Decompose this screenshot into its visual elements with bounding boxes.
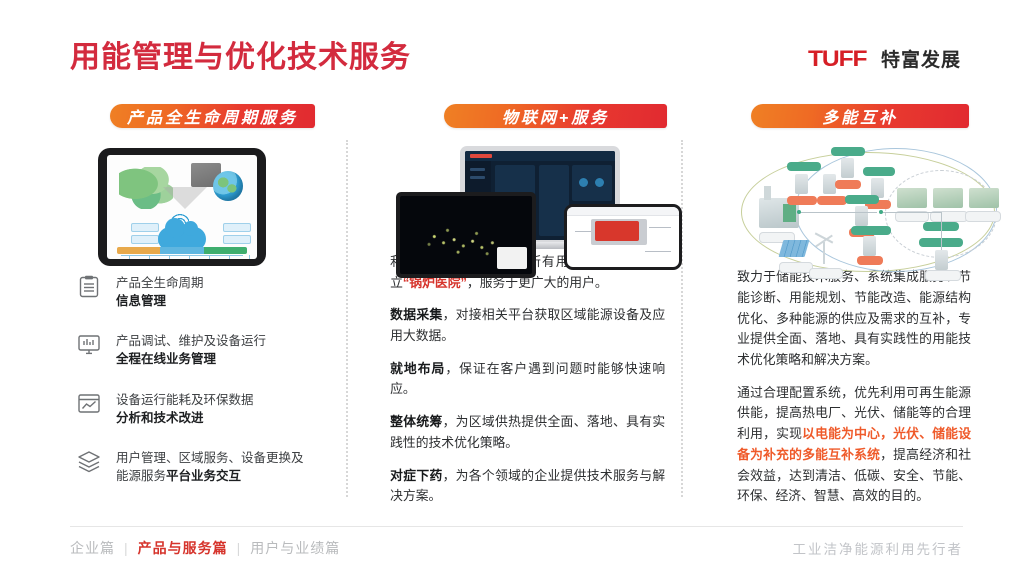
beam-graphic [163,187,207,209]
node-label-orange [817,196,847,205]
banner-product-lifecycle: 产品全生命周期服务 [110,104,315,128]
tree-stem [129,255,130,259]
gauge-dot [595,178,604,187]
cloud-tag [223,223,251,232]
pipe-line [645,251,671,252]
wind-turbine-graphic [823,242,825,264]
city-block-graphic [897,188,927,208]
feature-line-2-prefix: 能源服务 [116,469,166,483]
feature-line-2: 能源服务平台业务交互 [116,467,304,485]
feature-line-2: 信息管理 [116,292,204,310]
tree-stem [249,255,250,259]
node-label [925,270,961,281]
paragraph: 对症下药，为各个领域的企业提供技术服务与解决方案。 [390,466,665,507]
monitor-icon [76,332,102,358]
city-block-graphic [969,188,999,208]
paragraph-lead: 就地布局 [390,361,445,376]
chart-image-icon [76,391,102,417]
column-divider-1 [346,140,348,497]
node-label [965,211,1001,222]
paragraph: 数据采集，对接相关平台获取区域能源设备及应用大数据。 [390,305,665,346]
feature-text: 设备运行能耗及环保数据 分析和技术改进 [116,391,254,427]
cloud-tag [223,235,251,244]
tablet-screen [107,155,257,259]
map-legend-badge [497,247,527,269]
network-node [935,250,948,270]
phone-statusbar [567,207,679,216]
pipe-line [649,227,671,228]
node-label-green [831,147,865,156]
tablet-device [98,148,266,266]
node-label [779,262,813,273]
iot-body-text: 利用物联网采集区域内所有用户设备数据，建立“锅炉医院”，服务于更广大的用户。 数… [390,252,667,507]
network-node [841,158,854,178]
network-node [795,174,808,194]
illustration-device-cluster [390,142,667,238]
banner-iot-service: 物联网+服务 [444,104,667,128]
logo-chinese-name: 特富发展 [881,45,961,72]
breadcrumb-separator: | [124,540,129,556]
network-node [855,206,868,226]
node-label-green [787,162,821,171]
dashboard-card [572,165,612,201]
cloud-tag [131,235,159,244]
tree-stem [149,255,150,259]
tree-stem [169,255,170,259]
footer-tagline: 工业洁净能源利用先行者 [793,538,964,558]
city-block-graphic [933,188,963,208]
pipe-line [575,231,591,232]
connector-line [941,212,942,250]
gauge-dot [579,178,588,187]
status-segment-green [204,247,247,254]
feature-line-1: 产品全生命周期 [116,274,204,292]
node-label-green [863,167,895,176]
column-multi-energy: 多能互补 [737,104,973,507]
tree-connector [121,255,243,256]
banner-multi-energy: 多能互补 [751,104,969,128]
node-label-orange [787,196,817,205]
paragraph-lead: 对症下药 [390,468,442,483]
feature-item: 设备运行能耗及环保数据 分析和技术改进 [76,391,332,427]
node-label-orange [857,256,883,265]
connector-line [883,212,941,213]
status-segment-orange [117,247,160,254]
status-segment-blue [160,247,203,254]
breadcrumb-separator: | [237,540,242,556]
paragraph: 整体统筹，为区域供热提供全面、落地、具有实践性的技术优化策略。 [390,412,665,453]
column-product-lifecycle: 产品全生命周期服务 [70,104,332,507]
night-map-screen [400,196,532,274]
cloud-tag [131,223,159,232]
node-label [809,268,843,279]
phone-screen-boiler-diagram [567,207,679,267]
feature-line-2-strong: 平台业务交互 [166,469,241,483]
paragraph: 致力于储能技术服务、系统集成服务、节能诊断、用能规划、节能改造、能源结构优化、多… [737,267,971,371]
globe-graphic [213,171,243,201]
feature-text: 产品全生命周期 信息管理 [116,274,204,310]
device-cluster [396,142,682,282]
layers-icon [76,449,102,475]
node-label-green [845,195,879,204]
feature-text: 用户管理、区域服务、设备更换及 能源服务平台业务交互 [116,449,304,485]
breadcrumb-item-enterprise[interactable]: 企业篇 [70,538,115,558]
illustration-energy-network [737,142,973,257]
paragraph-lead: 整体统筹 [390,414,442,429]
content-columns: 产品全生命周期服务 [70,104,973,507]
logo-wordmark: TUFF [808,46,866,72]
feature-line-1: 产品调试、维护及设备运行 [116,332,266,350]
feature-item: 用户管理、区域服务、设备更换及 能源服务平台业务交互 [76,449,332,485]
node-tree-graphic [121,255,243,259]
phone-device [564,204,682,270]
breadcrumb-item-products-services[interactable]: 产品与服务篇 [138,538,228,558]
clipboard-icon [76,274,102,300]
paragraph: 就地布局，保证在客户遇到问题时能够快速响应。 [390,359,665,400]
dashboard-topbar [465,151,615,161]
feature-item: 产品调试、维护及设备运行 全程在线业务管理 [76,332,332,368]
feature-list: 产品全生命周期 信息管理 产品调试、维护及设备运行 [70,274,332,507]
brand-logo: TUFF 特富发展 [808,45,961,72]
illustration-tablet-cloud-platform [70,142,332,262]
connector-line [799,212,877,213]
node-label-green [851,226,891,235]
paragraph: 通过合理配置系统，优先利用可再生能源供能，提高热电厂、光伏、储能等的合理利用，实… [737,383,971,507]
network-node [863,236,876,256]
slide-root: 用能管理与优化技术服务 TUFF 特富发展 产品全生命周期服务 [0,0,1033,587]
footer: 企业篇 | 产品与服务篇 | 用户与业绩篇 工业洁净能源利用先行者 [70,526,963,569]
feature-line-2: 分析和技术改进 [116,409,254,427]
feature-line-2: 全程在线业务管理 [116,350,266,368]
page-title: 用能管理与优化技术服务 [70,40,411,76]
node-label-orange [835,180,861,189]
column-iot-service: 物联网+服务 [390,104,667,507]
solar-panel-graphic [779,240,810,257]
breadcrumb-item-customers-performance[interactable]: 用户与业绩篇 [250,538,340,558]
feature-text: 产品调试、维护及设备运行 全程在线业务管理 [116,332,266,368]
feature-line-1: 设备运行能耗及环保数据 [116,391,254,409]
paragraph-body: 致力于储能技术服务、系统集成服务、节能诊断、用能规划、节能改造、能源结构优化、多… [737,269,971,367]
status-color-bar [117,247,247,254]
feature-item: 产品全生命周期 信息管理 [76,274,332,310]
energy-network-diagram [737,144,1005,279]
tree-stem [229,255,230,259]
boiler-flame-graphic [595,221,639,241]
feature-line-1: 用户管理、区域服务、设备更换及 [116,449,304,467]
tree-stem [189,255,190,259]
paragraph-lead: 数据采集 [390,307,442,322]
multi-energy-body-text: 致力于储能技术服务、系统集成服务、节能诊断、用能规划、节能改造、能源结构优化、多… [737,267,973,507]
breadcrumb: 企业篇 | 产品与服务篇 | 用户与业绩篇 [70,538,340,558]
tree-stem [209,255,210,259]
tablet-device-map [396,192,536,278]
